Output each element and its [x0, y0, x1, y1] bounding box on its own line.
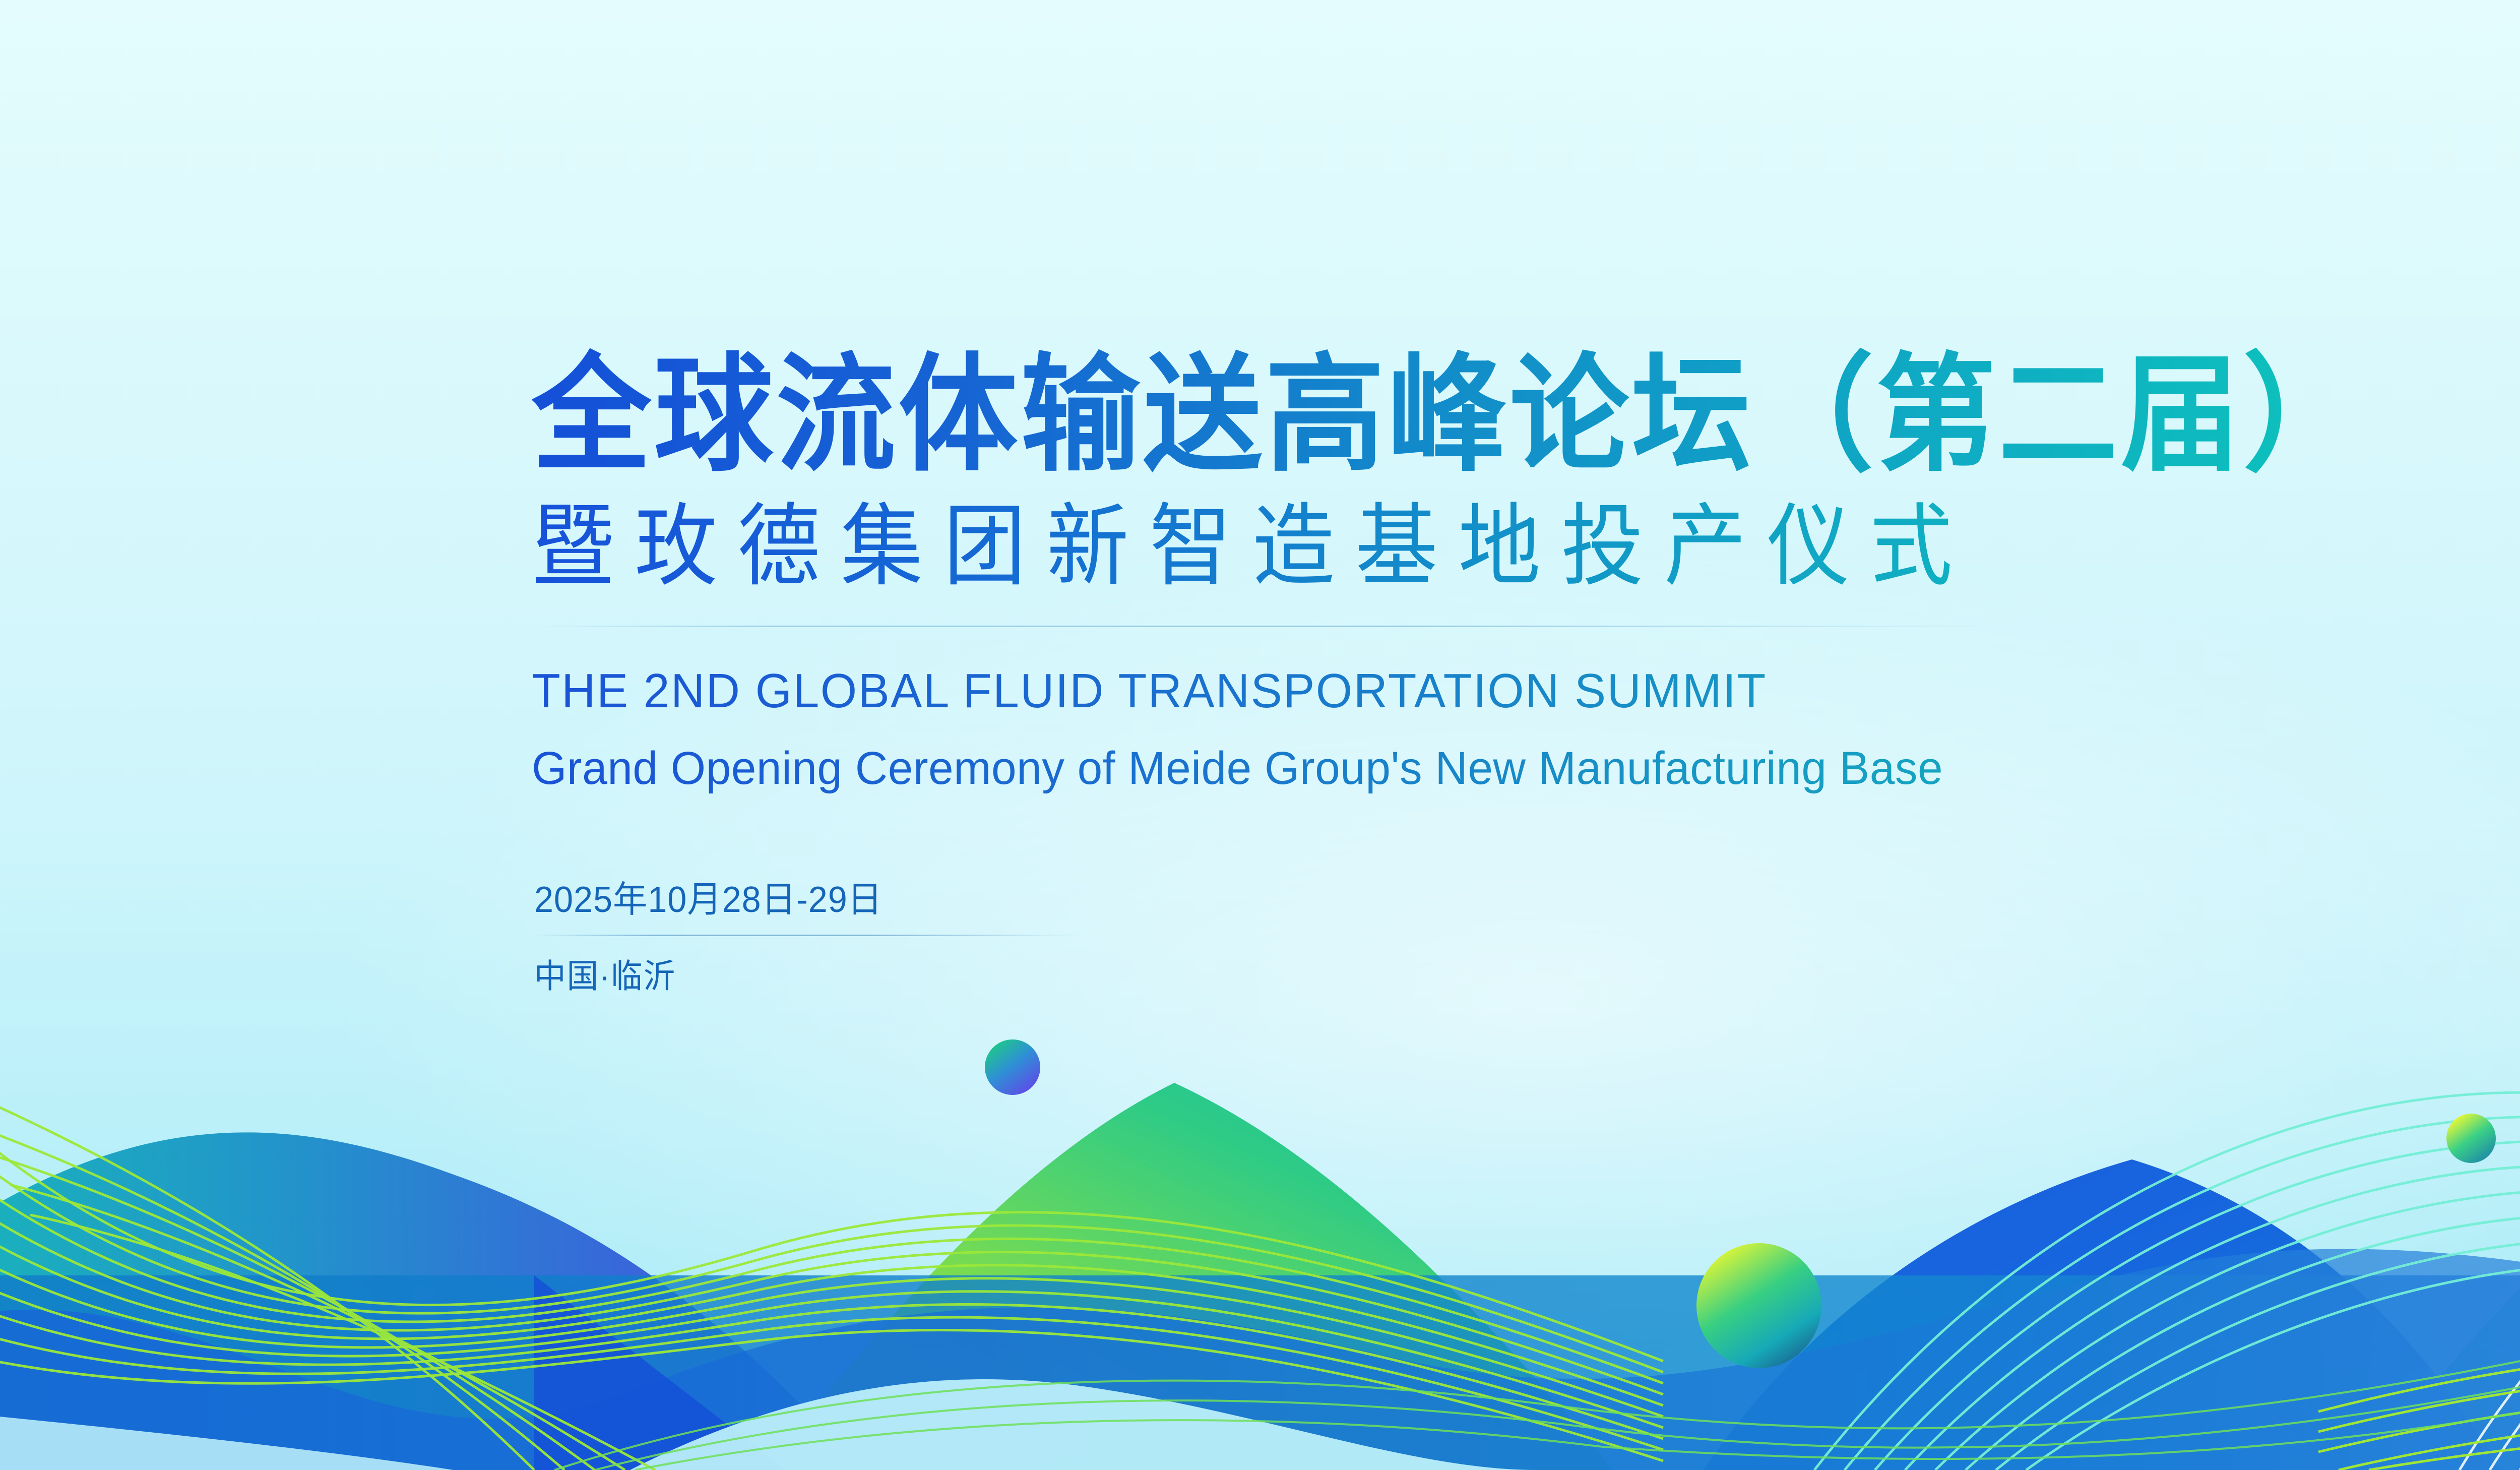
event-date: 2025年10月28日-29日: [534, 870, 1109, 923]
sphere-small-green: [2446, 1114, 2496, 1163]
english-title: THE 2ND GLOBAL FLUID TRANSPORTATION SUMM…: [532, 663, 2520, 719]
poster-canvas: 全球流体输送高峰论坛（第二届） 暨玫德集团新智造基地投产仪式 THE 2ND G…: [0, 0, 2520, 1470]
meta-divider: [534, 935, 1079, 936]
english-subtitle: Grand Opening Ceremony of Meide Group's …: [532, 742, 2520, 795]
page-subtitle: 暨玫德集团新智造基地投产仪式: [532, 494, 2520, 599]
event-location: 中国·临沂: [534, 949, 1109, 998]
event-meta: 2025年10月28日-29日 中国·临沂: [534, 870, 1139, 998]
sphere-small-blue: [985, 1039, 1040, 1095]
page-title: 全球流体输送高峰论坛（第二届）: [532, 348, 2520, 482]
sphere-large-green: [1696, 1243, 1821, 1368]
title-block: 全球流体输送高峰论坛（第二届） 暨玫德集团新智造基地投产仪式 THE 2ND G…: [532, 348, 2520, 795]
title-divider: [532, 626, 2008, 627]
